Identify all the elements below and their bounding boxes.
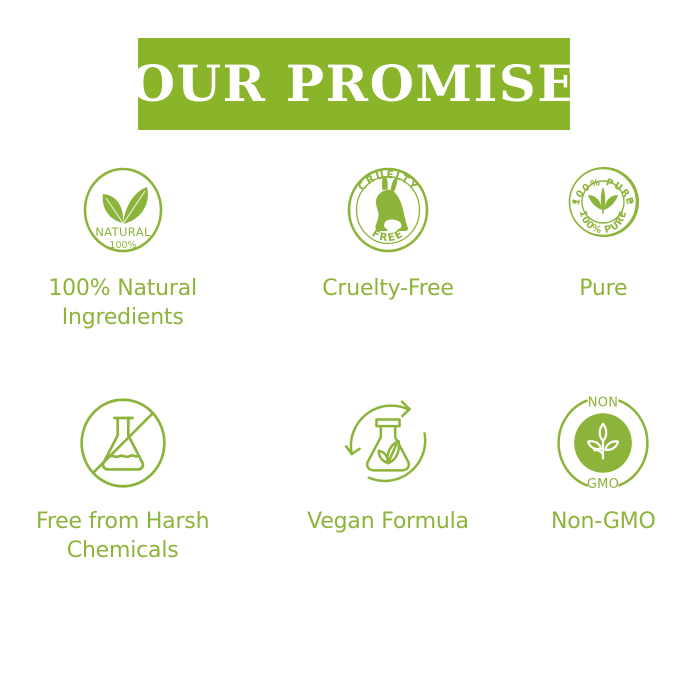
pure-scalloped-leaf-badge-icon: 100% PURE 100% PURE [553,160,653,260]
non-gmo-top-text: NON [588,395,618,410]
promise-item-pure: 100% PURE 100% PURE Pure [487,160,700,390]
promise-row: Free from Harsh Chemicals [0,390,700,625]
page-title: OUR PROMISE [130,59,577,109]
promise-item-vegan-formula: Vegan Formula [271,390,504,625]
promise-label: Vegan Formula [307,507,469,536]
promise-infographic: OUR PROMISE NATURAL [0,0,700,700]
promise-label: 100% Natural Ingredients [8,274,238,332]
natural-badge-primary-text: NATURAL [95,225,151,239]
non-gmo-plant-badge-icon: NON GMO [553,390,653,495]
promise-grid: NATURAL 100% 100% Natural Ingredients [0,160,700,625]
promise-row: NATURAL 100% 100% Natural Ingredients [0,160,700,390]
promise-label: Pure [579,274,627,303]
no-harsh-chemicals-flask-icon [73,390,173,495]
cruelty-badge-primary-text: CRUELTY [356,169,420,193]
natural-100-leaf-badge-icon: NATURAL 100% [73,160,173,260]
promise-label: Free from Harsh Chemicals [8,507,238,565]
promise-item-no-harsh-chemicals: Free from Harsh Chemicals [6,390,239,625]
promise-item-cruelty-free: CRUELTY FREE Cruelty-Free [271,160,504,390]
vegan-formula-flask-leaf-cycle-icon [338,390,438,495]
promise-item-non-gmo: NON GMO Non-GMO [487,390,700,625]
promise-label: Cruelty-Free [322,274,453,303]
banner: OUR PROMISE [138,38,570,130]
cruelty-badge-secondary-text: FREE [370,227,407,244]
promise-label: Non-GMO [551,507,656,536]
cruelty-free-rabbit-badge-icon: CRUELTY FREE [338,160,438,260]
non-gmo-bottom-text: GMO [587,477,619,492]
natural-badge-secondary-text: 100% [109,240,136,251]
promise-item-natural: NATURAL 100% 100% Natural Ingredients [6,160,239,390]
